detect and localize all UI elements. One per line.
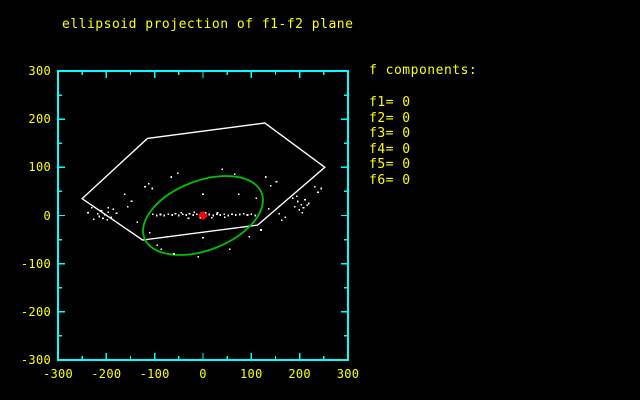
y-tick-label: 200 [2, 112, 51, 126]
scatter-point [124, 194, 126, 196]
scatter-point [98, 216, 100, 218]
f-component-row-1: f1= 0 [369, 95, 411, 111]
scatter-point [297, 201, 299, 203]
y-tick-label: 0 [2, 209, 51, 223]
chart-svg [0, 0, 640, 400]
scatter-point [178, 215, 180, 217]
scatter-point [255, 197, 257, 199]
scatter-point [205, 212, 207, 214]
scatter-point [202, 194, 204, 196]
scatter-point [224, 217, 226, 219]
scatter-point [227, 215, 229, 217]
scatter-point [281, 220, 283, 222]
scatter-point [279, 213, 281, 215]
scatter-point [164, 215, 166, 217]
scatter-point [296, 195, 298, 197]
scatter-point [196, 213, 198, 215]
scatter-point [149, 232, 151, 234]
scatter-point [292, 197, 294, 199]
scatter-point [307, 205, 309, 207]
scatter-point [116, 212, 118, 214]
scatter-point [107, 207, 109, 209]
scatter-point [93, 219, 95, 221]
scatter-point [238, 194, 240, 196]
scatter-point [314, 186, 316, 188]
scatter-point [160, 214, 162, 216]
scatter-point [180, 212, 182, 214]
y-tick-label: 100 [2, 160, 51, 174]
scatter-point [234, 173, 236, 175]
scatter-point [127, 206, 129, 208]
scatter-point [177, 172, 179, 174]
x-tick-label: -100 [134, 367, 176, 381]
scatter-point [212, 215, 214, 217]
scatter-point [249, 236, 251, 238]
x-tick-label: 300 [327, 367, 369, 381]
scatter-point [260, 229, 262, 231]
scatter-point [298, 209, 300, 211]
scatter-point [235, 214, 237, 216]
scatter-point [231, 213, 233, 215]
scatter-point [265, 176, 267, 178]
scatter-point [101, 210, 103, 212]
scatter-point [243, 213, 245, 215]
scatter-point [308, 203, 310, 205]
scatter-point [270, 185, 272, 187]
scatter-point [268, 208, 270, 210]
x-tick-label: -200 [85, 367, 127, 381]
y-tick-label: 300 [2, 64, 51, 78]
scatter-point [97, 213, 99, 215]
scatter-point [107, 219, 109, 221]
scatter-point [110, 217, 112, 219]
scatter-point [156, 215, 158, 217]
f-component-row-5: f5= 0 [369, 157, 411, 173]
scatter-point [199, 217, 201, 219]
f-component-row-6: f6= 0 [369, 173, 411, 189]
scatter-point [107, 211, 109, 213]
y-tick-label: -300 [2, 353, 51, 367]
app-root: ellipsoid projection of f1-f2 plane -300… [0, 0, 640, 400]
scatter-point [208, 214, 210, 216]
scatter-point [197, 256, 199, 258]
scatter-point [301, 212, 303, 214]
scatter-point [87, 212, 89, 214]
scatter-point [216, 213, 218, 215]
scatter-point [104, 214, 106, 216]
x-tick-label: -300 [37, 367, 79, 381]
scatter-point [193, 214, 195, 216]
scatter-point [167, 213, 169, 215]
scatter-point [185, 214, 187, 216]
scatter-point [171, 214, 173, 216]
scatter-point [144, 186, 146, 188]
scatter-point [161, 248, 163, 250]
scatter-point [223, 213, 225, 215]
scatter-point [239, 214, 241, 216]
scatter-point [136, 221, 138, 223]
scatter-point [156, 245, 158, 247]
scatter-point [284, 217, 286, 219]
x-tick-label: 200 [279, 367, 321, 381]
y-tick-label: -100 [2, 257, 51, 271]
f-component-row-4: f4= 0 [369, 142, 411, 158]
f-component-row-3: f3= 0 [369, 126, 411, 142]
plot-canvas [0, 0, 640, 400]
data-layer [82, 123, 325, 270]
scatter-point [112, 208, 114, 210]
scatter-point [211, 217, 213, 219]
scatter-point [151, 188, 153, 190]
scatter-point [194, 211, 196, 213]
scatter-point [175, 213, 177, 215]
scatter-point [251, 213, 253, 215]
scatter-point [303, 207, 305, 209]
scatter-point [131, 200, 133, 202]
polygon-feasible-region-polygon [82, 123, 325, 240]
f-component-row-2: f2= 0 [369, 111, 411, 127]
scatter-point [222, 168, 224, 170]
scatter-point [102, 218, 104, 220]
scatter-point [166, 236, 168, 238]
scatter-point [188, 218, 190, 220]
scatter-point [202, 237, 204, 239]
scatter-point [220, 214, 222, 216]
x-tick-label: 0 [182, 367, 224, 381]
y-tick-label: -200 [2, 305, 51, 319]
scatter-point [217, 212, 219, 214]
scatter-point [300, 204, 302, 206]
f-components-list: f1= 0f2= 0f3= 0f4= 0f5= 0f6= 0 [369, 95, 411, 188]
scatter-point [317, 192, 319, 194]
scatter-point [294, 206, 296, 208]
scatter-point [247, 214, 249, 216]
scatter-point [91, 207, 93, 209]
scatter-point [254, 215, 256, 217]
x-tick-label: 100 [230, 367, 272, 381]
scatter-point [148, 183, 150, 185]
scatter-point [304, 199, 306, 201]
scatter-point [170, 176, 172, 178]
scatter-point [189, 213, 191, 215]
scatter-point [173, 253, 175, 255]
f-components-heading: f components: [369, 63, 477, 78]
scatter-point [276, 181, 278, 183]
scatter-point [229, 248, 231, 250]
scatter-point [321, 188, 323, 190]
scatter-point [152, 213, 154, 215]
scatter-point [182, 213, 184, 215]
